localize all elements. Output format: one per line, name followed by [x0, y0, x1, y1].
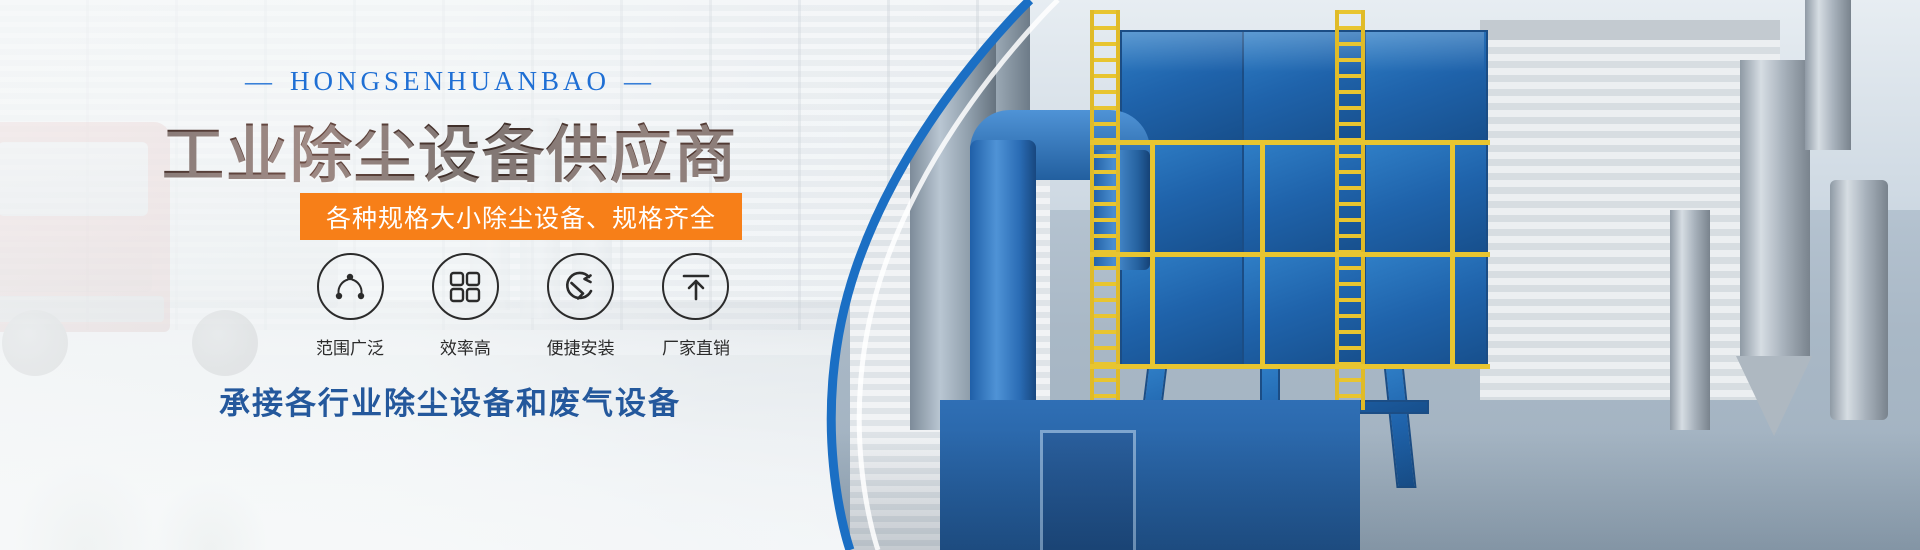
blue-duct-vertical [970, 140, 1036, 420]
hero-text-content: —HONGSENHUANBAO— 工业除尘设备供应商 各种规格大小除尘设备、规格… [0, 0, 900, 550]
feature-list: 范围广泛 效率高 [300, 253, 746, 359]
feature-label: 便捷安装 [547, 334, 615, 359]
dust-collector-plant-photo [790, 0, 1920, 550]
yellow-railing-post [1450, 140, 1455, 364]
baghouse-sheen [1122, 32, 1484, 72]
feature-label: 效率高 [440, 334, 491, 359]
grid-squares-icon [448, 270, 482, 304]
brand-eyebrow-text: HONGSENHUANBAO [290, 66, 610, 96]
silver-pipe [1830, 180, 1888, 420]
eyebrow-dash-left: — [245, 66, 276, 97]
photo-bottom-shadow [790, 430, 1920, 550]
feature-item-installation[interactable]: 便捷安装 [531, 253, 631, 359]
wrench-rotate-icon [563, 269, 599, 305]
headline: 工业除尘设备供应商 [0, 104, 900, 194]
baghouse-module [1120, 254, 1244, 368]
feature-item-factory-direct[interactable]: 厂家直销 [646, 253, 746, 359]
yellow-railing [1090, 364, 1490, 369]
feature-icon-circle [547, 253, 614, 320]
silver-tank [1740, 60, 1810, 360]
tagline-banner: 各种规格大小除尘设备、规格齐全 [300, 193, 742, 240]
network-nodes-icon [332, 269, 368, 305]
yellow-railing-post [1150, 140, 1155, 364]
hero-banner: —HONGSENHUANBAO— 工业除尘设备供应商 各种规格大小除尘设备、规格… [0, 0, 1920, 550]
cyclone-cone [1736, 356, 1812, 436]
baghouse-module [1364, 142, 1488, 256]
brand-eyebrow: —HONGSENHUANBAO— [0, 66, 900, 97]
feature-item-efficiency[interactable]: 效率高 [415, 253, 515, 359]
yellow-railing-post [1260, 140, 1265, 364]
feature-icon-circle [662, 253, 729, 320]
tagline-text: 各种规格大小除尘设备、规格齐全 [326, 199, 716, 235]
feature-icon-circle [432, 253, 499, 320]
feature-item-range[interactable]: 范围广泛 [300, 253, 400, 359]
eyebrow-dash-right: — [624, 66, 655, 97]
baghouse-module [1364, 254, 1488, 368]
subline: 承接各行业除尘设备和废气设备 [0, 378, 900, 423]
feature-label: 厂家直销 [662, 334, 730, 359]
yellow-ladder [1335, 10, 1365, 410]
feature-icon-circle [317, 253, 384, 320]
silver-stack [1805, 0, 1851, 150]
plant-building [1480, 40, 1780, 400]
silver-pipe [1670, 210, 1710, 430]
feature-label: 范围广泛 [316, 334, 384, 359]
arrow-up-bar-icon [679, 270, 713, 304]
